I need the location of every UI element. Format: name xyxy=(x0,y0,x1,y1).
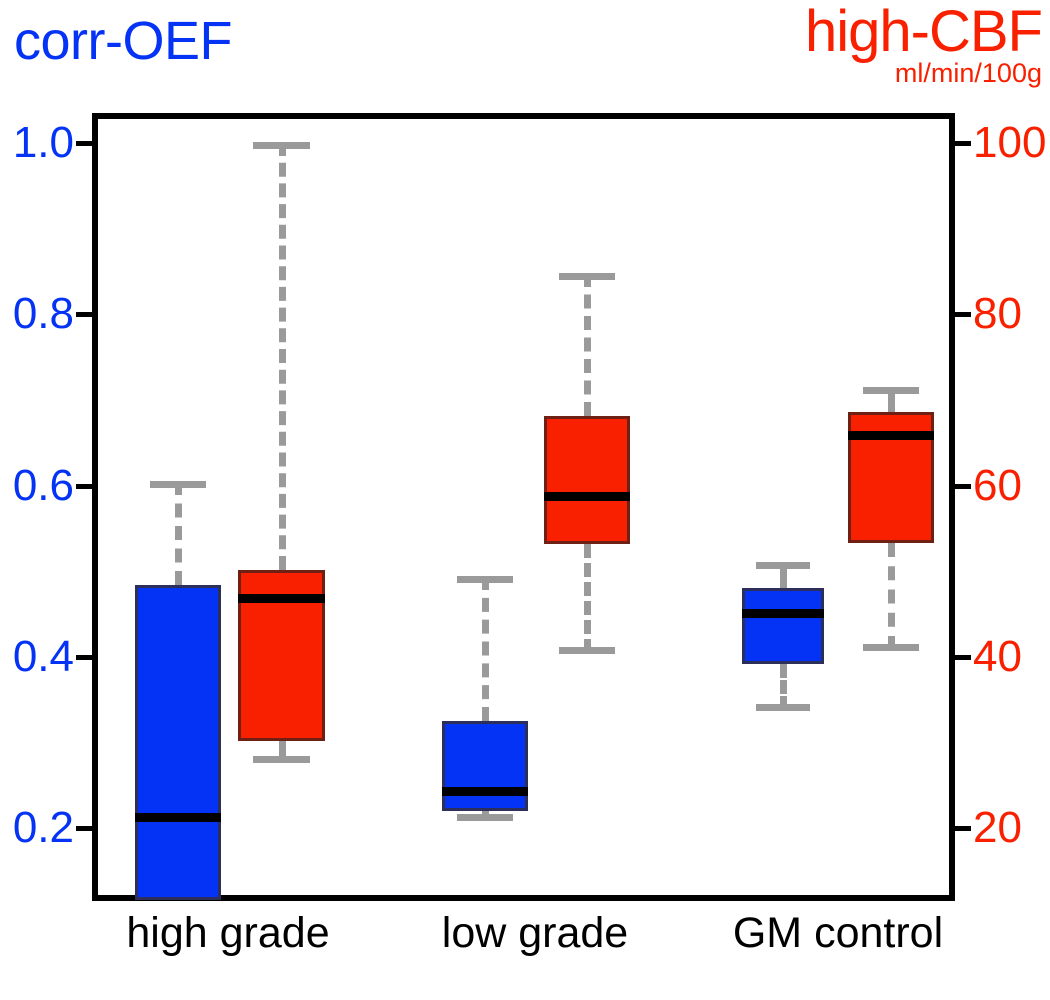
median-line xyxy=(238,594,325,603)
right-tick-mark xyxy=(955,141,971,146)
right-tick-mark xyxy=(955,484,971,489)
left-tick-mark xyxy=(76,141,92,146)
whisker-cap-upper xyxy=(756,562,810,569)
whisker-cap-lower xyxy=(756,704,810,711)
whisker-cap-upper xyxy=(863,387,920,394)
whisker-cap-lower xyxy=(457,814,514,821)
whisker-upper xyxy=(279,142,286,570)
box-corr-oef-high-grade xyxy=(135,585,221,900)
left-tick-label: 1.0 xyxy=(4,121,74,165)
whisker-lower xyxy=(584,544,591,654)
left-tick-mark xyxy=(76,312,92,317)
whisker-cap-lower xyxy=(863,644,920,651)
whisker-cap-upper xyxy=(457,576,514,583)
x-tick-label: GM control xyxy=(733,912,943,955)
whisker-cap-lower xyxy=(559,647,616,654)
right-tick-label: 80 xyxy=(973,292,1022,336)
whisker-cap-upper xyxy=(559,273,616,280)
right-tick-label: 60 xyxy=(973,464,1022,508)
right-tick-mark xyxy=(955,826,971,831)
median-line xyxy=(544,492,630,501)
left-tick-label: 0.2 xyxy=(4,806,74,850)
left-axis-title: corr-OEF xyxy=(14,14,232,68)
right-tick-label: 100 xyxy=(973,121,1046,165)
median-line xyxy=(848,431,934,440)
right-tick-mark xyxy=(955,312,971,317)
x-tick-label: low grade xyxy=(442,912,628,955)
whisker-cap-upper xyxy=(253,142,310,149)
right-tick-label: 20 xyxy=(973,806,1022,850)
box-high-cbf-low-grade xyxy=(544,416,630,544)
box-corr-oef-GM-control xyxy=(742,588,824,664)
left-tick-mark xyxy=(76,484,92,489)
chart-canvas: corr-OEF high-CBF ml/min/100g 1.00.80.60… xyxy=(0,0,1050,1000)
left-tick-label: 0.8 xyxy=(4,292,74,336)
whisker-cap-lower xyxy=(253,756,310,763)
whisker-cap-upper xyxy=(150,481,207,488)
left-tick-label: 0.6 xyxy=(4,464,74,508)
median-line xyxy=(442,787,528,796)
right-tick-mark xyxy=(955,655,971,660)
whisker-upper xyxy=(482,576,489,721)
whisker-upper xyxy=(175,481,182,585)
whisker-upper xyxy=(584,273,591,416)
plot-area xyxy=(92,113,955,901)
right-tick-label: 40 xyxy=(973,635,1022,679)
left-tick-label: 0.4 xyxy=(4,635,74,679)
left-tick-mark xyxy=(76,826,92,831)
median-line xyxy=(135,813,221,822)
x-tick-label: high grade xyxy=(126,912,329,955)
median-line xyxy=(742,609,824,618)
whisker-lower xyxy=(888,543,895,650)
left-tick-mark xyxy=(76,655,92,660)
right-axis-title-group: high-CBF ml/min/100g xyxy=(805,2,1042,89)
right-axis-title: high-CBF xyxy=(805,2,1042,61)
box-corr-oef-low-grade xyxy=(442,721,528,811)
